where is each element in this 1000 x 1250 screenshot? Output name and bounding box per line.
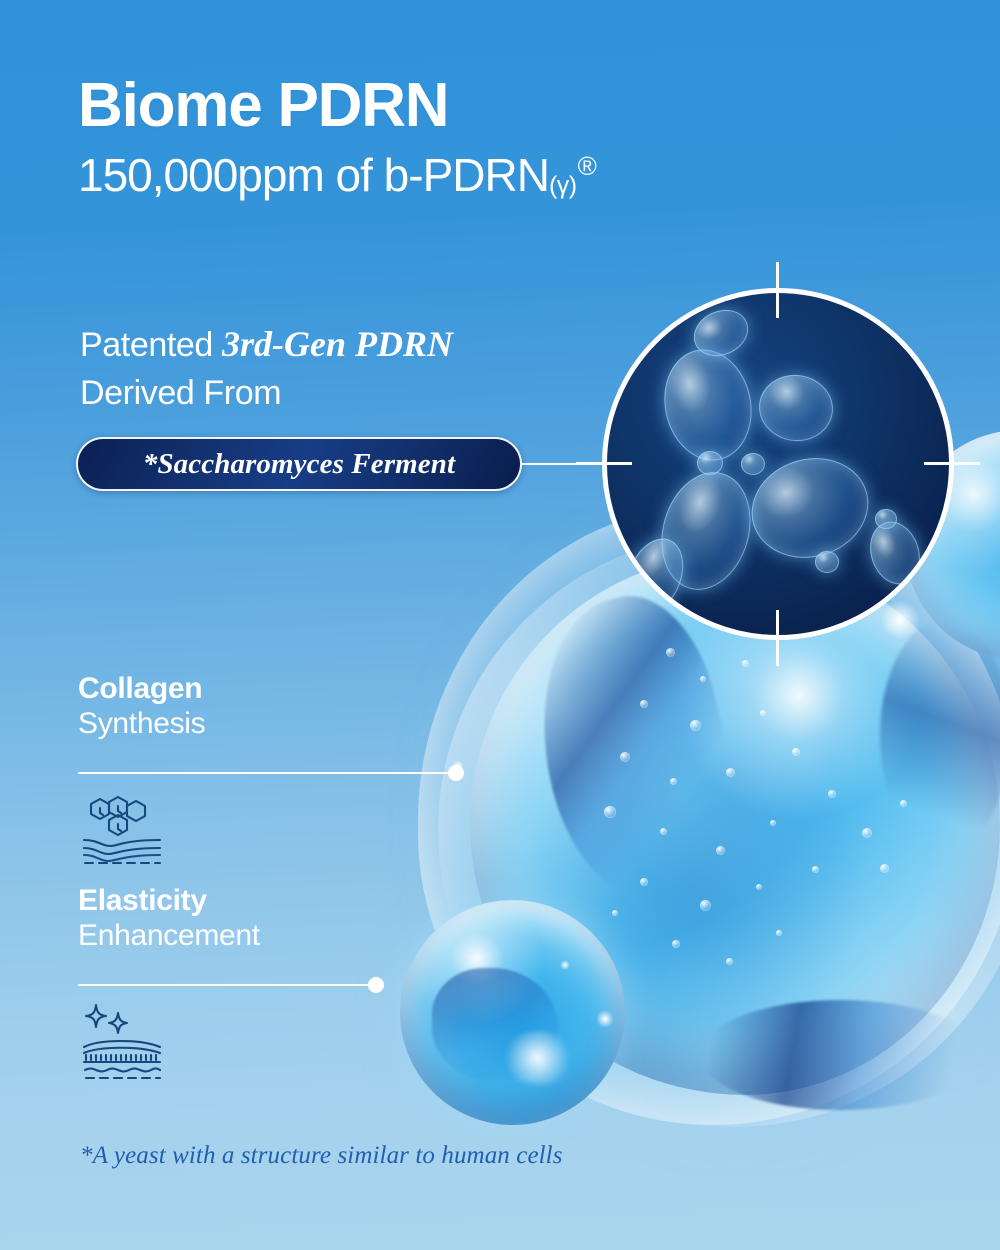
bubble bbox=[742, 660, 749, 667]
bubble bbox=[776, 930, 782, 936]
benefit-elasticity-rule bbox=[78, 984, 378, 986]
yeast-cell-bud bbox=[875, 509, 897, 529]
bubble bbox=[690, 720, 701, 731]
headline-block: Biome PDRN 150,000ppm of b-PDRN(γ)® bbox=[78, 74, 596, 200]
bubble bbox=[770, 820, 776, 826]
subtitle-subscript: (γ) bbox=[549, 172, 577, 200]
elasticity-sparkles-skin-layers-icon bbox=[80, 1003, 164, 1084]
benefit-collagen-subtitle: Synthesis bbox=[78, 706, 205, 742]
bubble bbox=[612, 910, 618, 916]
bubble bbox=[726, 958, 733, 965]
bubble bbox=[670, 778, 677, 785]
benefit-elasticity-rule-dot bbox=[368, 977, 384, 993]
crosshair-tick-left bbox=[576, 462, 632, 465]
bubble bbox=[792, 748, 800, 756]
bubble bbox=[700, 676, 706, 682]
bubble bbox=[760, 710, 766, 716]
yeast-cell bbox=[755, 370, 837, 446]
patent-line-2: Derived From bbox=[80, 370, 453, 417]
yeast-cell-bud bbox=[815, 551, 839, 573]
bubble bbox=[666, 648, 675, 657]
collagen-hexagons-skin-layers-icon bbox=[80, 793, 164, 870]
product-infographic-banner: Biome PDRN 150,000ppm of b-PDRN(γ)® Pate… bbox=[0, 0, 1000, 1250]
magnifier-callout bbox=[602, 288, 954, 640]
bubble bbox=[756, 884, 762, 890]
yeast-cell-bud bbox=[741, 453, 765, 475]
bubble bbox=[604, 806, 616, 818]
patent-line-1: Patented 3rd-Gen PDRN bbox=[80, 320, 453, 370]
page-title: Biome PDRN bbox=[78, 74, 596, 137]
benefit-collagen-rule bbox=[78, 772, 458, 774]
bubble bbox=[700, 900, 711, 911]
ink-swirl-bottom bbox=[700, 1000, 980, 1110]
benefit-elasticity: Elasticity Enhancement bbox=[78, 884, 260, 954]
subtitle: 150,000ppm of b-PDRN(γ)® bbox=[78, 151, 596, 199]
bubble bbox=[640, 878, 648, 886]
patent-plain-text: Patented bbox=[80, 326, 222, 364]
crosshair-tick-right bbox=[924, 462, 980, 465]
benefit-elasticity-subtitle: Enhancement bbox=[78, 918, 260, 954]
sparkle bbox=[560, 960, 570, 970]
patent-block: Patented 3rd-Gen PDRN Derived From bbox=[80, 320, 453, 417]
yeast-cell bbox=[654, 341, 761, 468]
benefit-collagen-title: Collagen bbox=[78, 672, 205, 706]
bubble bbox=[640, 700, 648, 708]
bubble bbox=[828, 790, 836, 798]
bubble bbox=[880, 864, 889, 873]
yeast-cell bbox=[862, 515, 927, 591]
footnote: *A yeast with a structure similar to hum… bbox=[80, 1142, 563, 1170]
bubble bbox=[900, 800, 907, 807]
water-droplet-small bbox=[400, 900, 625, 1125]
benefit-collagen-rule-dot bbox=[448, 765, 464, 781]
ink-swirl-right bbox=[880, 620, 1000, 850]
yeast-cell-bud bbox=[697, 451, 723, 475]
saccharomyces-ferment-label: *Saccharomyces Ferment bbox=[143, 448, 455, 481]
magnifier-disc bbox=[602, 288, 954, 640]
crosshair-tick-bottom bbox=[776, 610, 779, 666]
bubble bbox=[620, 752, 630, 762]
saccharomyces-ferment-badge: *Saccharomyces Ferment bbox=[76, 437, 522, 491]
benefit-collagen: Collagen Synthesis bbox=[78, 672, 205, 742]
bubble bbox=[862, 828, 872, 838]
bubble bbox=[716, 846, 725, 855]
bubble bbox=[812, 866, 819, 873]
subtitle-main: 150,000ppm of b-PDRN bbox=[78, 149, 549, 201]
crosshair-tick-top bbox=[776, 262, 779, 318]
patent-emphasis-text: 3rd-Gen PDRN bbox=[222, 324, 453, 364]
sparkle bbox=[596, 1010, 614, 1028]
bubble bbox=[660, 828, 667, 835]
bubble bbox=[672, 940, 680, 948]
bubble bbox=[726, 768, 735, 777]
benefit-elasticity-title: Elasticity bbox=[78, 884, 260, 918]
registered-trademark-icon: ® bbox=[578, 151, 596, 181]
